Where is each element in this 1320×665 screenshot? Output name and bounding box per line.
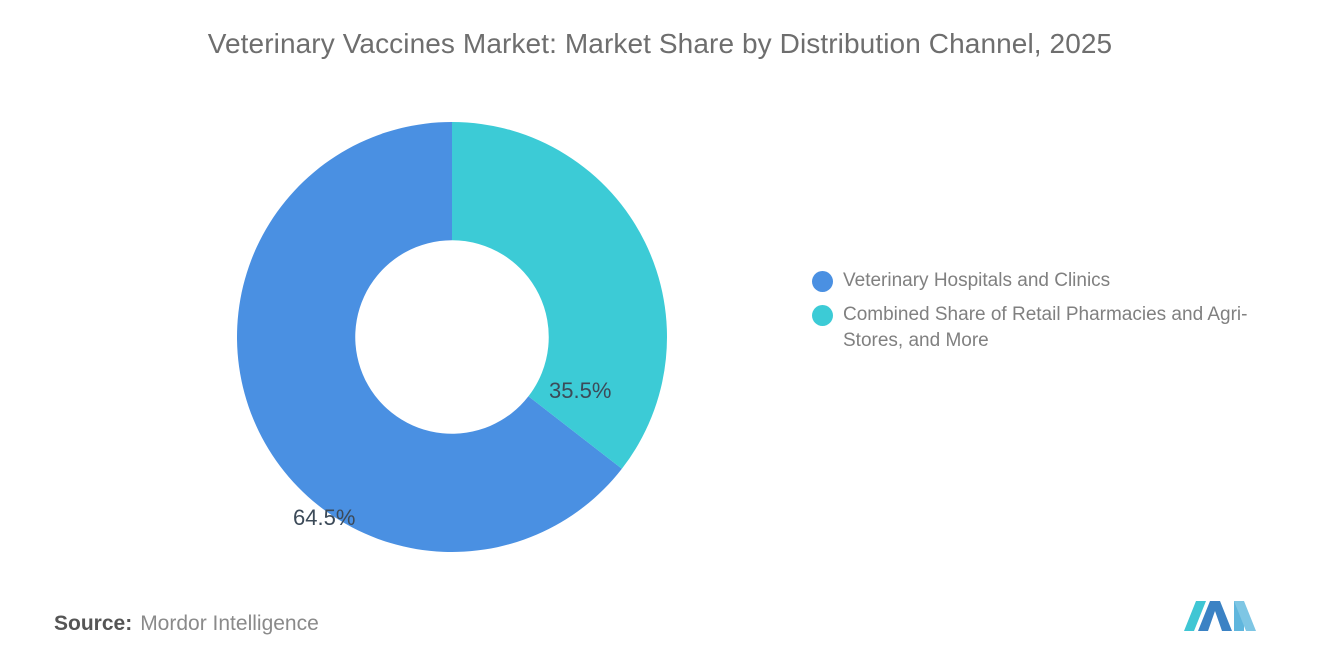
source-value: Mordor Intelligence — [140, 612, 319, 635]
donut-value-label-combined-share: 35.5% — [549, 378, 611, 404]
mordor-intelligence-logo-icon — [1182, 597, 1258, 637]
donut-slice-combined-share-retail-pharmacies[interactable] — [452, 122, 667, 469]
donut-chart-svg — [237, 122, 667, 552]
legend-item-label: Veterinary Hospitals and Clinics — [843, 268, 1110, 294]
donut-chart: 35.5% 64.5% — [237, 122, 667, 552]
legend-item-combined-share-retail-pharmacies[interactable]: Combined Share of Retail Pharmacies and … — [812, 302, 1282, 354]
legend-item-veterinary-hospitals-and-clinics[interactable]: Veterinary Hospitals and Clinics — [812, 268, 1282, 294]
source-attribution: Source:Mordor Intelligence — [54, 612, 319, 636]
page-title: Veterinary Vaccines Market: Market Share… — [0, 28, 1320, 60]
logo-svg — [1182, 597, 1258, 637]
source-label: Source: — [54, 612, 132, 635]
donut-value-label-veterinary-hospitals: 64.5% — [293, 505, 355, 531]
legend-color-swatch-icon — [812, 271, 833, 292]
legend-item-label: Combined Share of Retail Pharmacies and … — [843, 302, 1282, 354]
legend-color-swatch-icon — [812, 305, 833, 326]
chart-legend: Veterinary Hospitals and Clinics Combine… — [812, 268, 1282, 362]
